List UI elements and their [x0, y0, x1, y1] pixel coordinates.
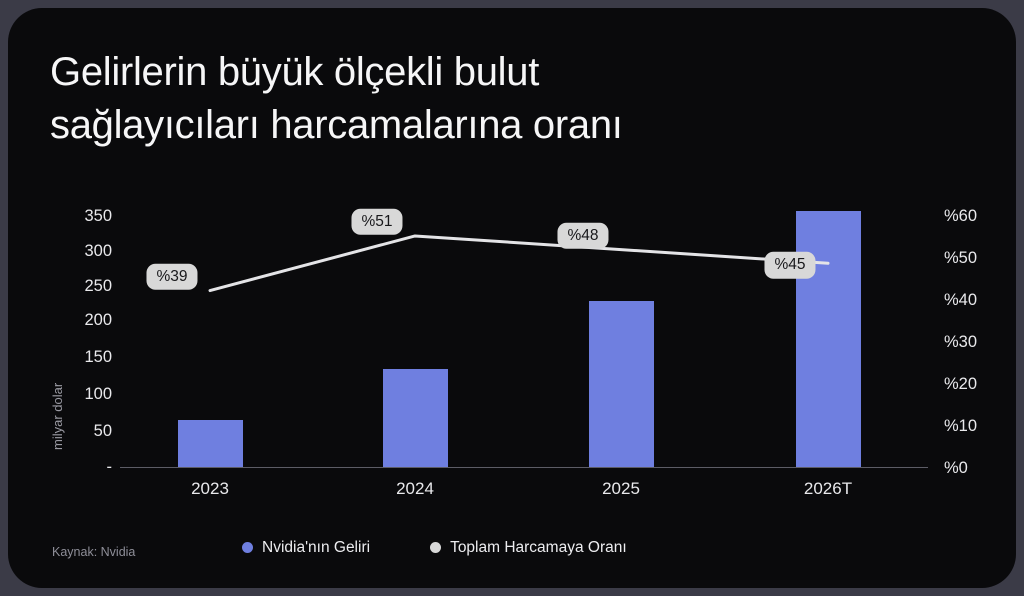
- bar-2026T[interactable]: [796, 211, 861, 467]
- x-tick-2023: 2023: [150, 480, 270, 497]
- data-label-2025: %48: [557, 222, 608, 249]
- data-label-2023: %39: [146, 263, 197, 290]
- y-tick-100: 100: [58, 386, 112, 403]
- y2-tick-50: %50: [944, 250, 1004, 267]
- y2-tick-10: %10: [944, 418, 1004, 435]
- chart-title: Gelirlerin büyük ölçekli bulut sağlayıcı…: [50, 46, 850, 152]
- x-axis: 2023 2024 2025 2026T: [120, 480, 928, 506]
- y2-tick-40: %40: [944, 292, 1004, 309]
- chart-legend: Nvidia'nın Geliri Toplam Harcamaya Oranı: [242, 540, 627, 556]
- source-note: Kaynak: Nvidia: [52, 545, 135, 559]
- legend-item-revenue[interactable]: Nvidia'nın Geliri: [242, 540, 370, 556]
- legend-label-revenue: Nvidia'nın Geliri: [262, 540, 370, 556]
- legend-dot-icon: [242, 542, 253, 553]
- y2-tick-20: %20: [944, 376, 1004, 393]
- y2-tick-60: %60: [944, 208, 1004, 225]
- x-tick-2026T: 2026T: [768, 480, 888, 497]
- y-tick-0: -: [58, 459, 112, 476]
- x-tick-2025: 2025: [561, 480, 681, 497]
- y-tick-50: 50: [58, 423, 112, 440]
- y-axis-left: milyar dolar 350 300 250 200 150 100 50 …: [54, 195, 112, 468]
- y-tick-150: 150: [58, 349, 112, 366]
- y-axis-right: %60 %50 %40 %30 %20 %10 %0: [936, 195, 1006, 468]
- bar-2024[interactable]: [383, 369, 448, 467]
- x-axis-line: [120, 467, 928, 468]
- x-tick-2024: 2024: [355, 480, 475, 497]
- y2-tick-30: %30: [944, 334, 1004, 351]
- legend-dot-icon: [430, 542, 441, 553]
- y-tick-250: 250: [58, 278, 112, 295]
- data-label-2026T: %45: [764, 252, 815, 279]
- y-tick-300: 300: [58, 243, 112, 260]
- y-tick-200: 200: [58, 312, 112, 329]
- screenshot-root: Gelirlerin büyük ölçekli bulut sağlayıcı…: [0, 0, 1024, 596]
- bar-2023[interactable]: [178, 420, 243, 467]
- legend-item-ratio[interactable]: Toplam Harcamaya Oranı: [430, 540, 627, 556]
- y2-tick-0: %0: [944, 460, 1004, 477]
- bar-2025[interactable]: [589, 301, 654, 467]
- data-label-2024: %51: [351, 209, 402, 236]
- legend-label-ratio: Toplam Harcamaya Oranı: [450, 540, 627, 556]
- y-tick-350: 350: [58, 208, 112, 225]
- chart-card: Gelirlerin büyük ölçekli bulut sağlayıcı…: [8, 8, 1016, 588]
- plot-area: %39 %51 %48 %45: [120, 195, 928, 468]
